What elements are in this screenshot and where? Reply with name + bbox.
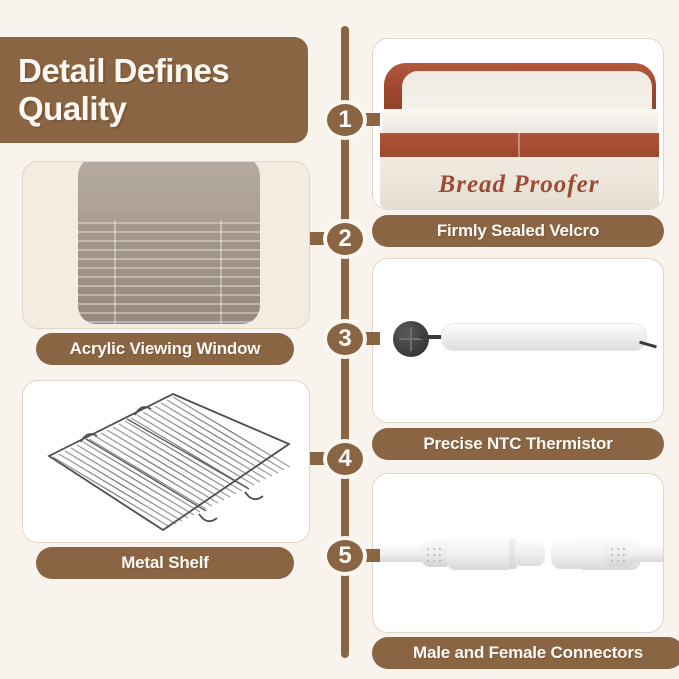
feature-image-5 bbox=[372, 473, 664, 633]
page-title: Detail Defines Quality bbox=[18, 52, 229, 129]
thermistor-sleeve bbox=[441, 323, 647, 351]
bread-proofer-illustration: Bread Proofer bbox=[378, 63, 660, 209]
window-rack-lines bbox=[78, 220, 260, 324]
feature-image-4 bbox=[22, 380, 310, 543]
step-badge-2: 2 bbox=[323, 219, 367, 259]
feature-label-5: Male and Female Connectors bbox=[372, 637, 679, 669]
proofer-brand-text: Bread Proofer bbox=[378, 171, 660, 199]
feature-image-1: Bread Proofer bbox=[372, 38, 664, 210]
title-line-2: Quality bbox=[18, 90, 229, 128]
step-badge-4: 4 bbox=[323, 439, 367, 479]
step-badge-1: 1 bbox=[323, 100, 367, 140]
male-connector-body bbox=[447, 537, 515, 570]
feature-label-1: Firmly Sealed Velcro bbox=[372, 215, 664, 247]
step-badge-3: 3 bbox=[323, 319, 367, 359]
window-gloss bbox=[78, 161, 260, 222]
step-badge-5: 5 bbox=[323, 536, 367, 576]
title-line-1: Detail Defines bbox=[18, 52, 229, 90]
feature-image-3 bbox=[372, 258, 664, 423]
thermistor-cross-vertical bbox=[410, 327, 412, 351]
feature-label-4: Metal Shelf bbox=[36, 547, 294, 579]
male-connector-tip bbox=[515, 541, 545, 566]
product-feature-infographic: Detail Defines Quality 1 Bread Proofer F… bbox=[0, 0, 679, 679]
metal-shelf-illustration bbox=[23, 381, 310, 543]
proofer-white-band bbox=[382, 109, 658, 133]
proofer-lid bbox=[384, 63, 656, 113]
feature-label-3: Precise NTC Thermistor bbox=[372, 428, 664, 460]
proofer-lid-inner bbox=[402, 71, 652, 113]
feature-image-2 bbox=[22, 161, 310, 329]
proofer-seam bbox=[518, 133, 520, 158]
right-cable bbox=[629, 545, 664, 562]
feature-label-2: Acrylic Viewing Window bbox=[36, 333, 294, 365]
title-banner: Detail Defines Quality bbox=[0, 37, 308, 143]
